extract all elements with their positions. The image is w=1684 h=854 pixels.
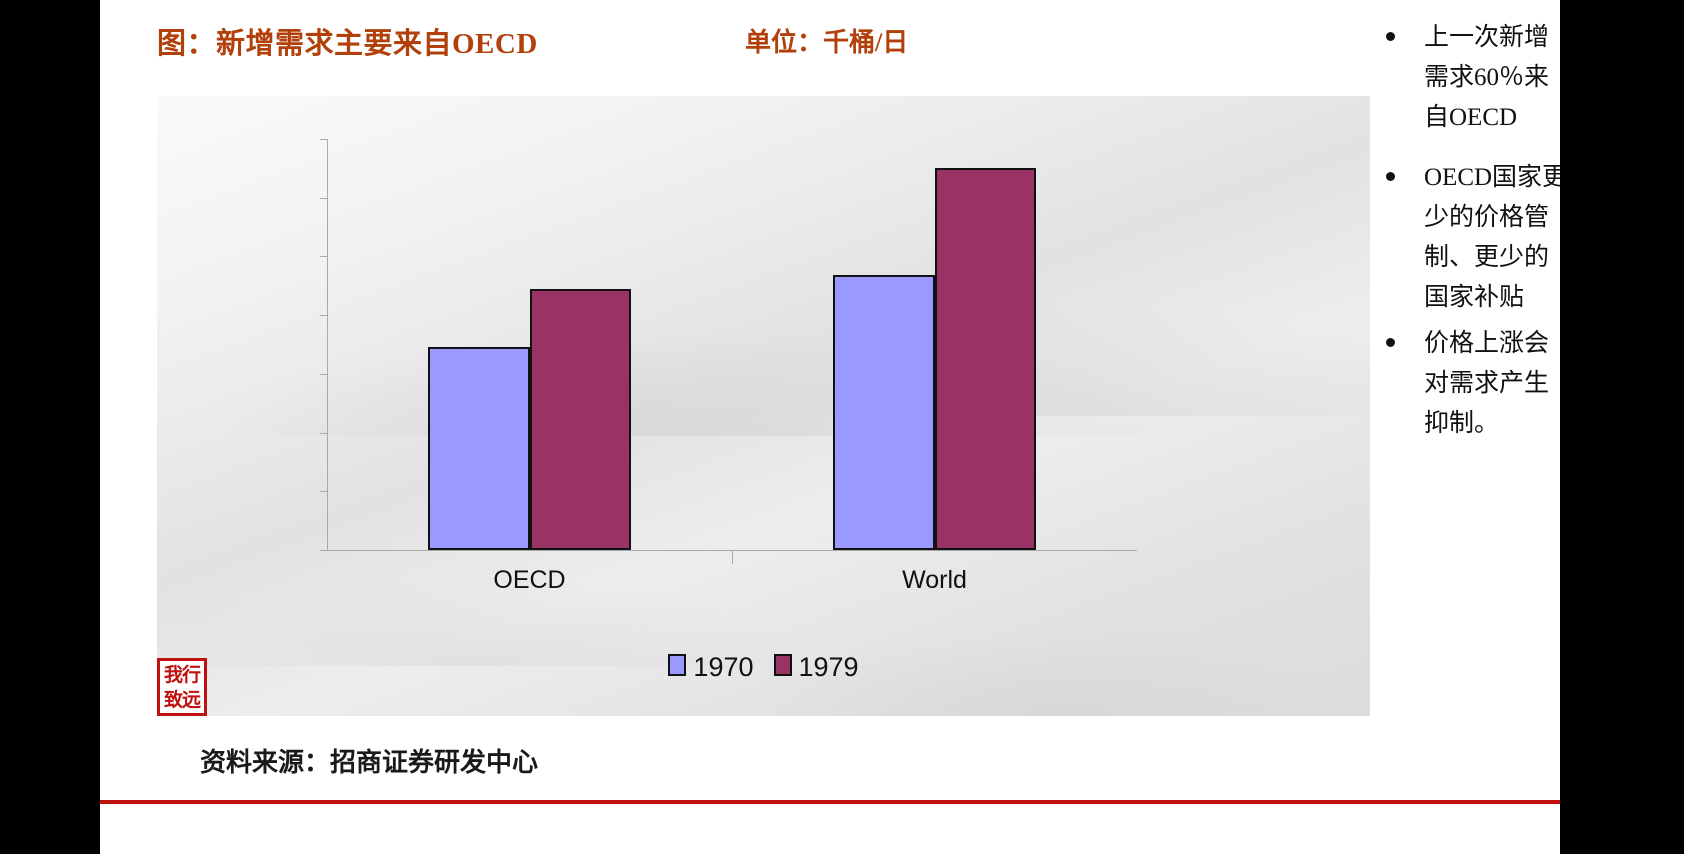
legend-item-1970: 1970 [668,652,753,683]
legend-swatch-icon [668,654,686,676]
y-axis-tick [320,256,328,257]
bullet-text: OECD国家更少的价格管制、更少的国家补贴 [1424,158,1560,318]
x-axis-category-label: World [732,566,1137,595]
legend-label: 1979 [799,652,859,683]
y-axis-tick [320,315,328,316]
y-axis-tick [320,139,328,140]
y-axis-tick [320,433,328,434]
y-axis-tick [320,198,328,199]
slide-letterbox: 图：新增需求主要来自OECD 单位：千桶/日 70,00060,00050,00… [0,0,1684,854]
x-axis-category-label: OECD [327,566,732,595]
chart-unit-label: 单位：千桶/日 [745,22,908,59]
bullet-dot-icon [1386,32,1395,41]
background-watermark-band [157,216,1370,436]
legend-label: 1970 [693,652,753,683]
company-seal-logo: 我行 致远 [157,658,207,716]
bar-chart: 70,00060,00050,00040,00030,00020,00010,0… [157,96,1370,716]
x-axis-tick [732,550,733,564]
slide-canvas: 图：新增需求主要来自OECD 单位：千桶/日 70,00060,00050,00… [100,0,1560,854]
slide-header: 图：新增需求主要来自OECD 单位：千桶/日 [100,0,1560,96]
seal-glyph-text: 我行 致远 [160,661,204,713]
bullet-dot-icon [1386,338,1395,347]
bar-oecd-1970 [428,347,529,550]
y-axis-tick [320,374,328,375]
chart-legend: 19701979 [157,652,1370,683]
legend-item-1979: 1979 [774,652,859,683]
footer-accent-rule [100,800,1560,804]
y-axis-tick [320,550,328,551]
bullet-text: 价格上涨会对需求产生抑制。 [1424,324,1560,444]
bar-oecd-1979 [530,289,631,550]
bullet-dot-icon [1386,172,1395,181]
legend-swatch-icon [774,654,792,676]
source-note: 资料来源：招商证券研发中心 [200,742,538,779]
y-axis-line [327,139,328,550]
bar-world-1970 [833,275,934,550]
bullet-text: 上一次新增需求60％来自OECD [1424,18,1560,138]
chart-title: 图：新增需求主要来自OECD [157,20,538,62]
y-axis-tick [320,491,328,492]
bar-world-1979 [935,168,1036,550]
bullet-list: 上一次新增需求60％来自OECD OECD国家更少的价格管制、更少的国家补贴 价… [1382,6,1560,706]
